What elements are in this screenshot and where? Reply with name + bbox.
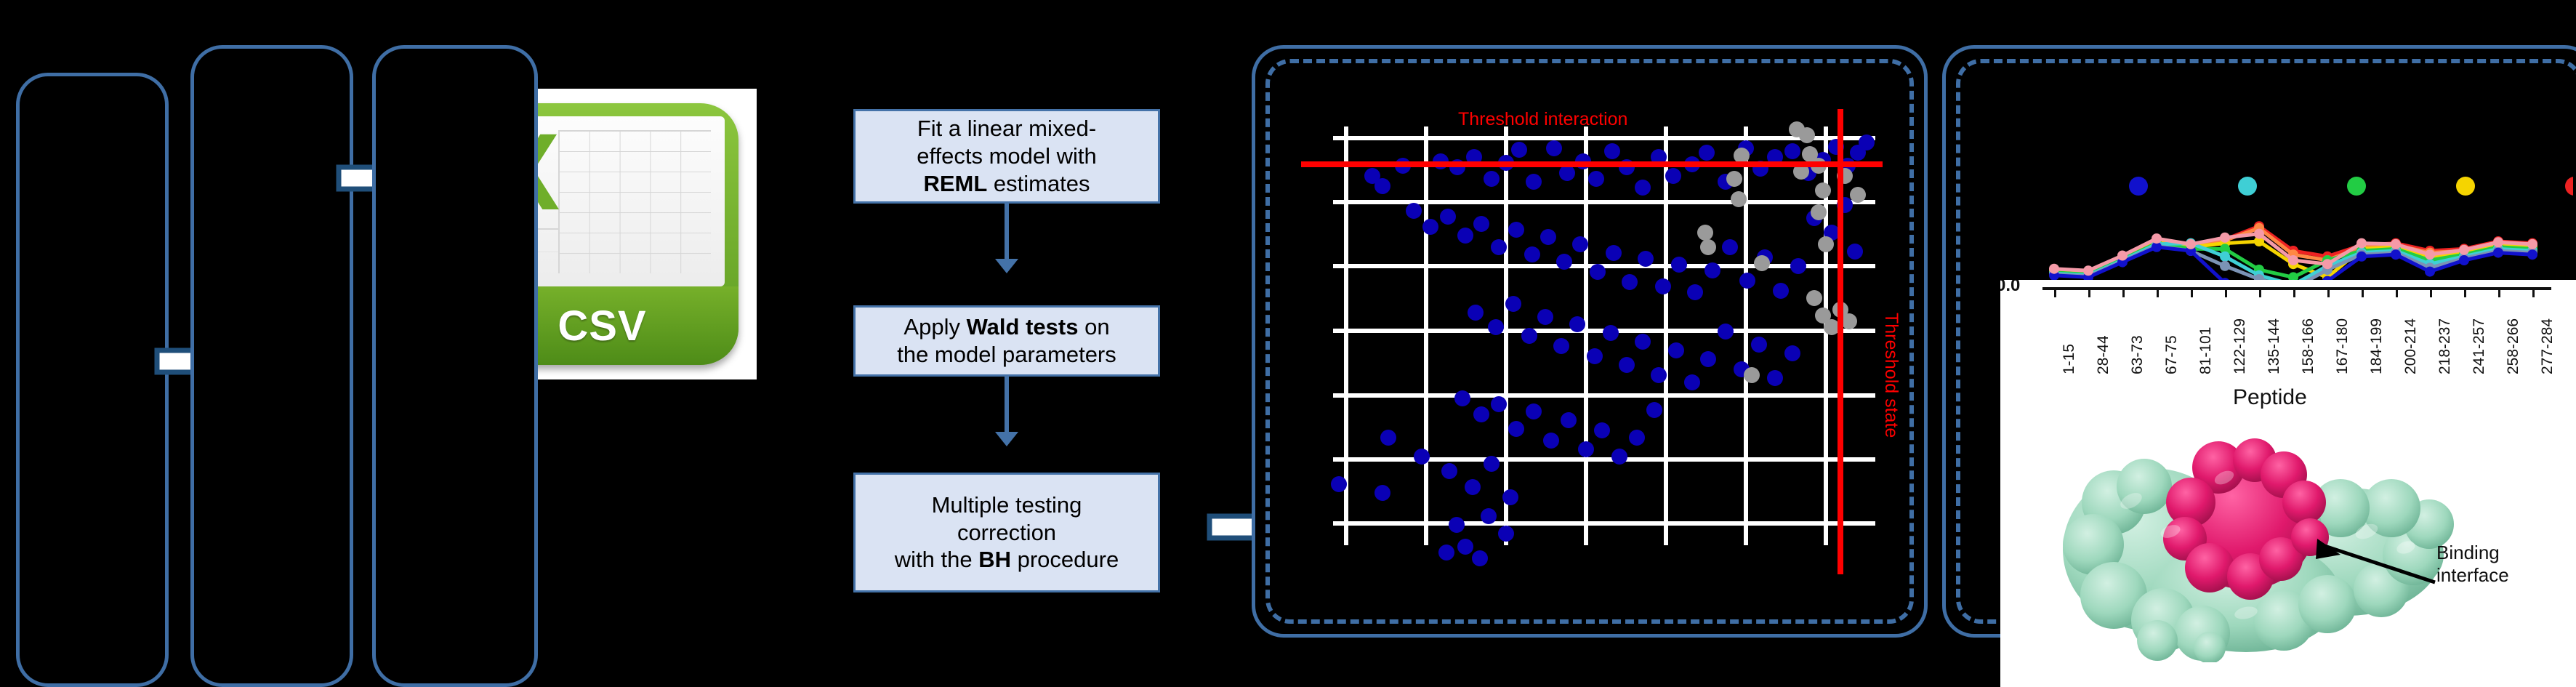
series-point — [2356, 238, 2367, 249]
legend-dot-series-cyan — [2238, 177, 2257, 196]
binding-interface-annotation: Binding interface — [2436, 542, 2509, 586]
step2-line2: the model parameters — [897, 342, 1116, 367]
step-fit-model: Fit a linear mixed- effects model with R… — [853, 109, 1160, 204]
step3-post: procedure — [1011, 547, 1119, 572]
series-point — [2117, 251, 2128, 261]
threshold-state-label: Threshold state — [1880, 313, 1901, 438]
series-point — [2527, 249, 2537, 260]
peptide-tick — [2327, 287, 2330, 297]
series-point — [2254, 229, 2264, 239]
pipeline-canvas: X CSV Fit a linear mixed- effects model … — [0, 0, 2576, 687]
peptide-tick-label: 63-73 — [2129, 335, 2146, 374]
legend-dot-series-green — [2347, 177, 2366, 196]
binding-line1: Binding — [2436, 542, 2509, 564]
peptide-tick-label: 135-144 — [2266, 318, 2283, 374]
peptide-tick-label: 1-15 — [2061, 344, 2078, 374]
peptide-tick-label: 67-75 — [2163, 335, 2181, 374]
peptide-tick — [2396, 287, 2398, 297]
csv-format-label: CSV — [558, 302, 646, 350]
legend-dot-series-yellow — [2456, 177, 2475, 196]
series-point — [2152, 233, 2162, 244]
series-point — [2391, 239, 2401, 249]
peptide-tick — [2088, 287, 2090, 297]
binding-line2: interface — [2436, 564, 2509, 587]
series-point — [2391, 249, 2401, 260]
connector-step1-step2-head — [995, 259, 1018, 273]
peptide-tick — [2259, 287, 2261, 297]
series-point — [2288, 255, 2298, 265]
peptide-tick-label: 200-214 — [2402, 318, 2420, 374]
peptide-line-chart — [1992, 116, 2573, 298]
step-wald-tests: Apply Wald tests on the model parameters — [853, 305, 1160, 377]
volcano-svg — [1301, 109, 1883, 574]
series-point — [2220, 252, 2230, 262]
series-point — [2493, 237, 2503, 247]
series-point — [2083, 265, 2093, 276]
step2-pre: Apply — [903, 314, 966, 340]
peptide-tick-label: 81-101 — [2197, 327, 2215, 374]
step2-wald: Wald tests — [967, 314, 1079, 340]
series-point — [2186, 239, 2196, 249]
panel-csv — [190, 45, 353, 687]
step3-pre: with the — [895, 547, 978, 572]
protein-surface-render — [2028, 422, 2508, 662]
series-point — [2527, 239, 2537, 249]
peptide-tick-label: 158-166 — [2300, 318, 2317, 374]
step2-post: on — [1078, 314, 1109, 340]
peptide-tick — [2122, 287, 2125, 297]
peptide-tick-label: 218-237 — [2436, 318, 2454, 374]
step3-line1: Multiple testing — [932, 492, 1082, 518]
connector-step1-step2 — [1005, 204, 1009, 260]
series-point — [2220, 233, 2230, 243]
peptide-tick — [2157, 287, 2159, 297]
peptide-tick-label: 277-284 — [2539, 318, 2556, 374]
step1-line2: effects model with — [917, 143, 1097, 169]
step3-bh: BH — [978, 547, 1011, 572]
series-point — [2493, 248, 2503, 258]
series-point — [2220, 261, 2230, 271]
step1-reml: REML — [923, 171, 987, 196]
series-point — [2049, 264, 2059, 274]
peptide-tick — [2054, 287, 2056, 297]
series-point — [2425, 267, 2435, 277]
peptide-tick-label: 167-180 — [2334, 318, 2351, 374]
peptide-tick-label: 184-199 — [2368, 318, 2386, 374]
step3-line2: correction — [957, 520, 1056, 545]
step-multiple-testing: Multiple testing correction with the BH … — [853, 473, 1160, 592]
series-point — [2459, 245, 2469, 255]
structure-card: 0.0 1-1528-4463-7367-7581-101122-129135-… — [2000, 280, 2576, 687]
connector-step2-step3 — [1005, 377, 1009, 433]
csv-grid-main — [558, 130, 711, 274]
peptide-tick — [2532, 287, 2535, 297]
x-axis-title: Peptide — [2233, 385, 2307, 410]
panel-model — [372, 45, 538, 687]
peptide-tick — [2430, 287, 2432, 297]
peptide-tick-label: 258-266 — [2505, 318, 2522, 374]
peptide-tick — [2464, 287, 2466, 297]
peptide-tick — [2293, 287, 2295, 297]
series-point — [2356, 252, 2367, 262]
peptide-line-chart-svg — [1992, 116, 2573, 298]
series-point — [2459, 255, 2469, 265]
peptide-tick — [2362, 287, 2364, 297]
peptide-tick — [2225, 287, 2227, 297]
peptide-tick — [2498, 287, 2500, 297]
series-point — [2425, 249, 2435, 260]
threshold-interaction-label: Threshold interaction — [1458, 109, 1627, 130]
peptide-tick-label: 28-44 — [2095, 335, 2112, 374]
peptide-tick-label: 241-257 — [2471, 318, 2488, 374]
panel-input — [16, 73, 169, 687]
legend-dot-series-blue — [2129, 177, 2148, 196]
series-point — [2322, 259, 2333, 269]
legend-dot-series-red — [2565, 177, 2573, 196]
step1-line3-rest: estimates — [987, 171, 1090, 196]
peptide-tick-label: 122-129 — [2231, 318, 2249, 374]
volcano-plot: Threshold interaction Threshold state — [1301, 109, 1883, 574]
connector-step2-step3-head — [995, 432, 1018, 446]
peptide-tick — [2191, 287, 2193, 297]
step1-line1: Fit a linear mixed- — [917, 116, 1096, 141]
